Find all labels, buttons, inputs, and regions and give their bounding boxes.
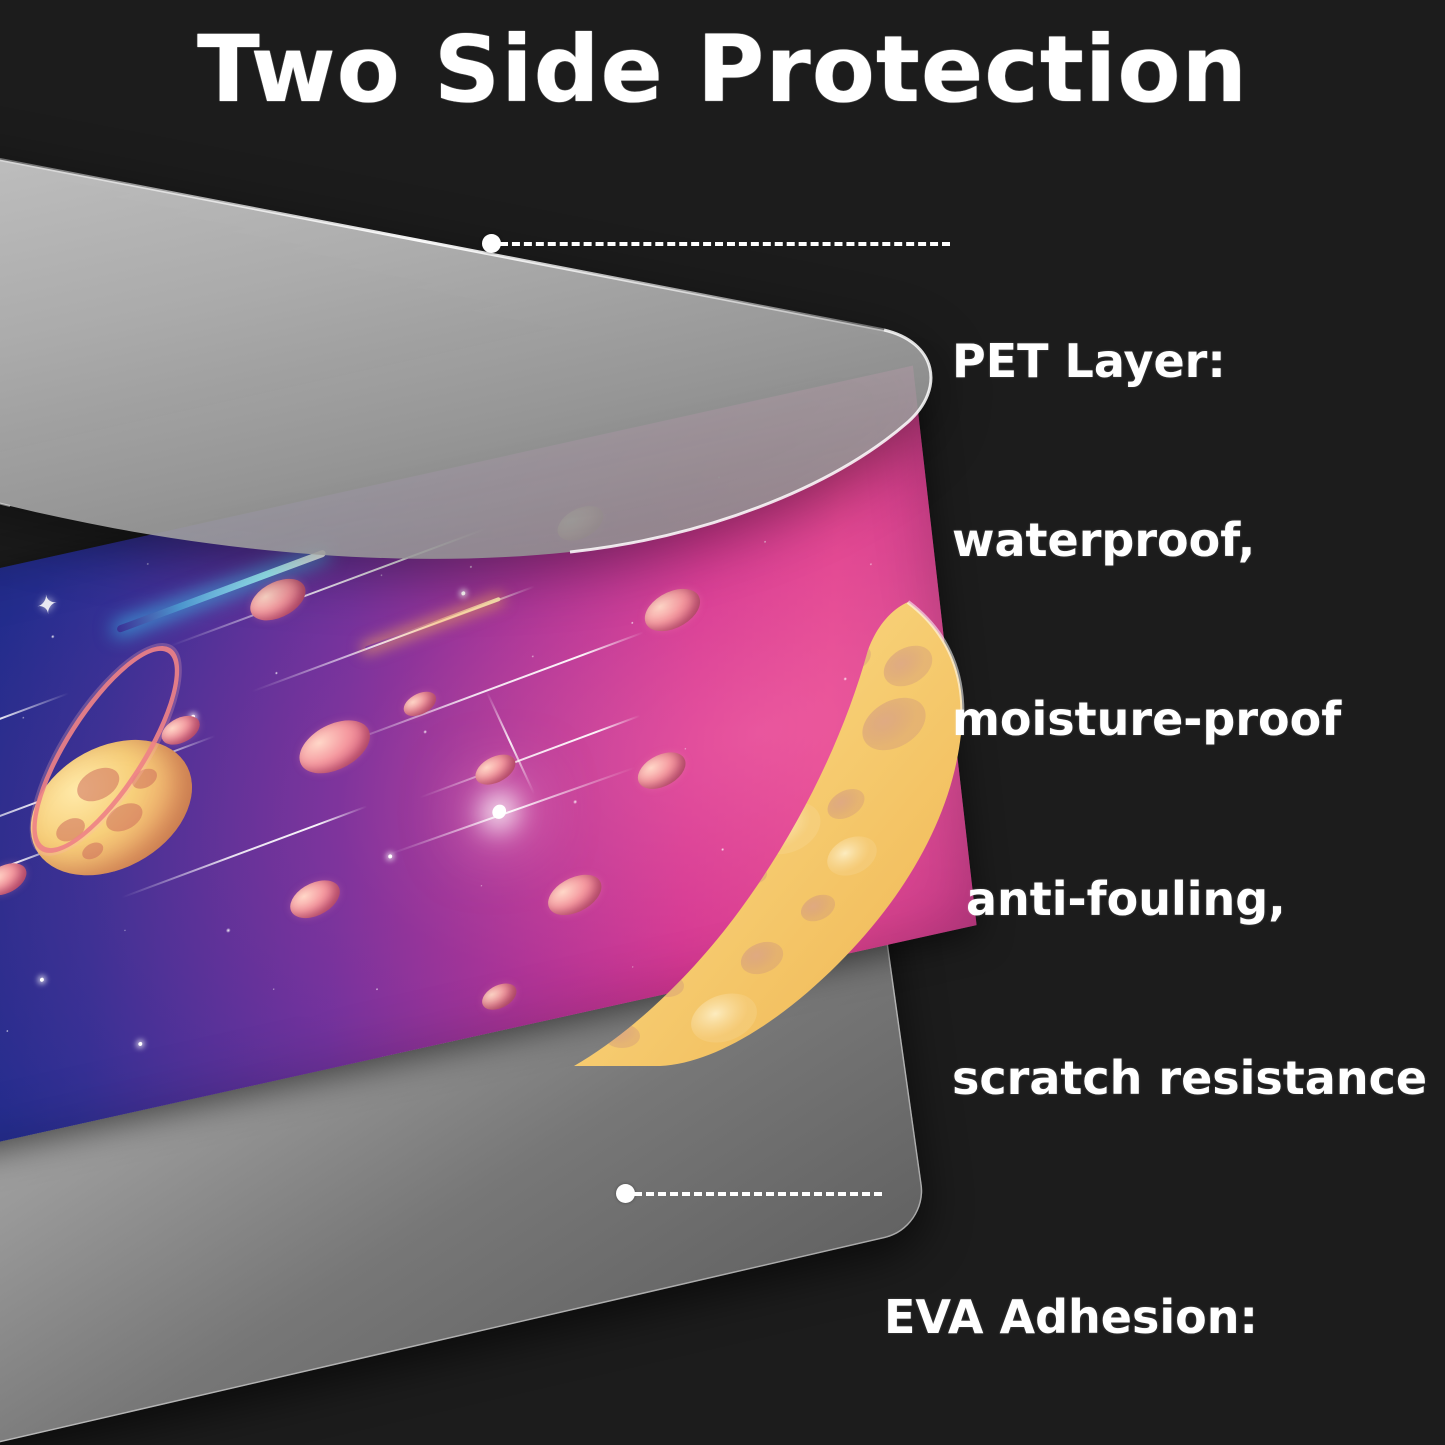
- small-planet: [633, 745, 690, 796]
- pet-callout-leader-line: [500, 242, 950, 246]
- star-flare-ray: [388, 767, 635, 856]
- bright-star: [191, 714, 195, 719]
- crater: [129, 765, 159, 793]
- eva-callout-heading: EVA Adhesion:: [884, 1288, 1417, 1348]
- crater: [80, 839, 105, 862]
- crater: [73, 761, 123, 807]
- small-planet: [400, 687, 438, 721]
- pet-callout-text: PET Layer: waterproof, moisture-proof an…: [952, 212, 1427, 1229]
- small-planet: [479, 979, 520, 1016]
- pet-callout-heading: PET Layer:: [952, 332, 1427, 392]
- bright-star: [388, 854, 392, 859]
- page-title: Two Side Protection: [0, 22, 1445, 119]
- small-planet: [158, 710, 203, 750]
- crater: [103, 798, 146, 837]
- pet-callout-line-1: waterproof,: [952, 511, 1427, 571]
- eva-callout-dot[interactable]: [616, 1184, 635, 1203]
- meteor-streak: [0, 693, 69, 832]
- pet-callout-dot[interactable]: [482, 234, 501, 253]
- eva-callout-text: EVA Adhesion: strong EVA adhesive layer …: [884, 1168, 1417, 1445]
- eva-callout-leader-line: [634, 1192, 882, 1196]
- meteor-streak: [121, 806, 367, 899]
- infographic-canvas: Two Side Protection: [0, 0, 1445, 1445]
- star-flare-ray: [486, 691, 535, 795]
- meteor-streak: [0, 735, 216, 860]
- small-planet: [293, 710, 376, 784]
- star-flare-icon: [492, 803, 507, 820]
- bright-star: [40, 977, 44, 982]
- bright-star: [138, 1041, 142, 1046]
- pet-callout-line-2: moisture-proof: [952, 690, 1427, 750]
- small-planet: [0, 857, 30, 902]
- saturn-planet-body: [13, 715, 208, 901]
- pet-protective-sheet: [0, 118, 980, 678]
- meteor-streak: [419, 714, 640, 798]
- meteor-streak: [0, 840, 73, 951]
- small-planet: [472, 749, 519, 791]
- pet-callout-line-4: scratch resistance: [952, 1049, 1427, 1109]
- pet-callout-line-3: anti-fouling,: [952, 870, 1427, 930]
- small-planet: [543, 866, 606, 922]
- crater: [52, 813, 87, 845]
- small-planet: [286, 873, 345, 926]
